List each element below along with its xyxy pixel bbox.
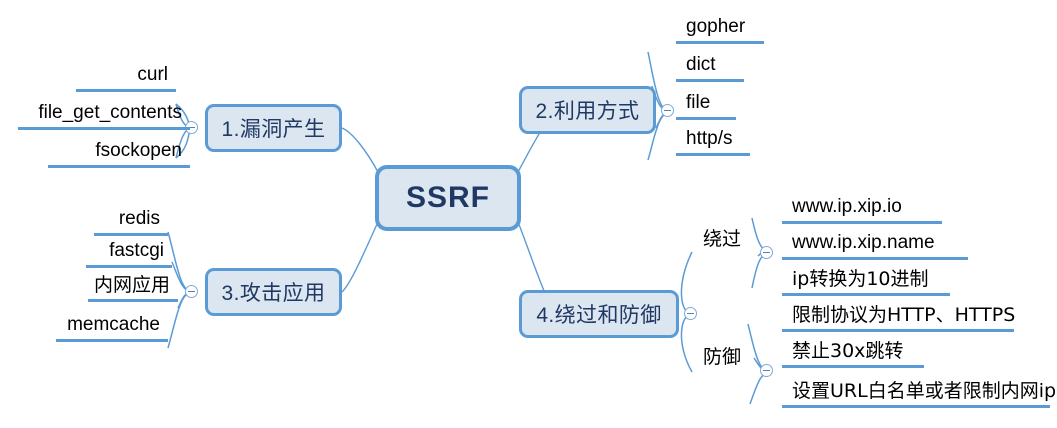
leaf-block-redirect[interactable]: 禁止30x跳转	[782, 338, 924, 368]
branch-node-3[interactable]: 3.攻击应用	[205, 268, 342, 316]
leaf-xip-io[interactable]: www.ip.xip.io	[782, 194, 942, 224]
mindmap-canvas: SSRF 1.漏洞产生 curl file_get_contents fsock…	[0, 0, 1057, 428]
leaf-http-s[interactable]: http/s	[676, 126, 750, 156]
branch-node-4-label: 4.绕过和防御	[536, 299, 661, 329]
leaf-restrict-protocol[interactable]: 限制协议为HTTP、HTTPS	[782, 302, 1014, 332]
collapse-minus-icon-defense[interactable]	[760, 364, 773, 377]
leaf-curl[interactable]: curl	[76, 62, 176, 92]
collapse-minus-icon-branch-4[interactable]	[684, 307, 697, 320]
leaf-memcache[interactable]: memcache	[56, 312, 168, 342]
branch-node-1-label: 1.漏洞产生	[222, 113, 326, 143]
branch-node-4[interactable]: 4.绕过和防御	[519, 290, 679, 338]
leaf-xip-name[interactable]: www.ip.xip.name	[782, 230, 968, 260]
leaf-dict[interactable]: dict	[676, 52, 744, 82]
leaf-redis[interactable]: redis	[94, 206, 168, 236]
collapse-minus-icon-branch-2[interactable]	[661, 104, 674, 117]
branch-node-2[interactable]: 2.利用方式	[519, 86, 656, 134]
subbranch-label-defense[interactable]: 防御	[696, 346, 748, 370]
central-node-ssrf[interactable]: SSRF	[375, 165, 521, 231]
branch-node-3-label: 3.攻击应用	[222, 277, 326, 307]
central-node-label: SSRF	[406, 181, 490, 215]
leaf-gopher[interactable]: gopher	[676, 14, 764, 44]
leaf-url-whitelist[interactable]: 设置URL白名单或者限制内网ip	[782, 378, 1050, 408]
subbranch-label-bypass[interactable]: 绕过	[696, 228, 748, 252]
leaf-fastcgi[interactable]: fastcgi	[86, 238, 172, 268]
leaf-file[interactable]: file	[676, 90, 736, 120]
leaf-ip-to-decimal[interactable]: ip转换为10进制	[782, 266, 950, 296]
leaf-intranet-app[interactable]: 内网应用	[88, 272, 178, 302]
branch-node-2-label: 2.利用方式	[536, 95, 640, 125]
collapse-minus-icon-bypass[interactable]	[760, 246, 773, 259]
branch-node-1[interactable]: 1.漏洞产生	[205, 104, 342, 152]
leaf-file-get-contents[interactable]: file_get_contents	[18, 100, 190, 130]
collapse-minus-icon-branch-3[interactable]	[185, 285, 198, 298]
leaf-fsockopen[interactable]: fsockopen	[48, 138, 190, 168]
